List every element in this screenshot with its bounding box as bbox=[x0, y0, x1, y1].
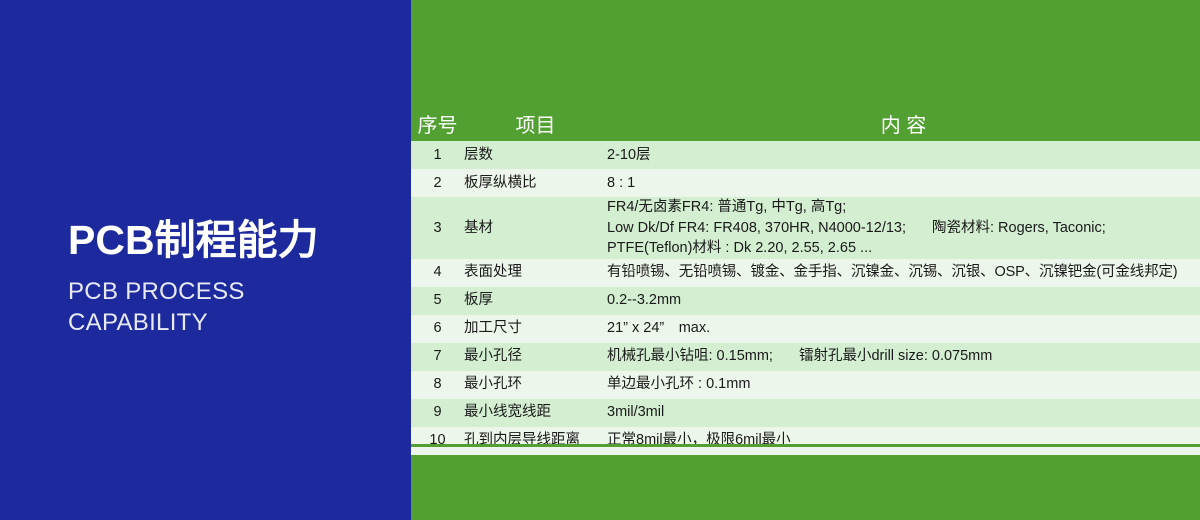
table-row: 6 加工尺寸 21” x 24” max. bbox=[411, 315, 1200, 343]
cell-no: 2 bbox=[411, 169, 464, 197]
column-header-no: 序号 bbox=[411, 105, 464, 141]
cell-no: 1 bbox=[411, 141, 464, 169]
content-line: 正常8mil最小，极限6mil最小 bbox=[607, 430, 1200, 451]
column-header-content: 内 容 bbox=[607, 105, 1200, 141]
content-line: 8 : 1 bbox=[607, 173, 1200, 194]
cell-item: 加工尺寸 bbox=[464, 315, 607, 343]
cell-content: 机械孔最小钻咀: 0.15mm;镭射孔最小drill size: 0.075mm bbox=[607, 343, 1200, 371]
cell-content: 2-10层 bbox=[607, 141, 1200, 169]
cell-no: 5 bbox=[411, 287, 464, 315]
content-line: 21” x 24” max. bbox=[607, 318, 1200, 339]
cell-no: 4 bbox=[411, 259, 464, 287]
content-line: FR4/无卤素FR4: 普通Tg, 中Tg, 高Tg; bbox=[607, 197, 1200, 218]
cell-content: 单边最小孔环 : 0.1mm bbox=[607, 371, 1200, 399]
cell-no: 3 bbox=[411, 197, 464, 259]
content-line: PTFE(Teflon)材料 : Dk 2.20, 2.55, 2.65 ... bbox=[607, 238, 1200, 259]
cell-no: 10 bbox=[411, 427, 464, 455]
page-title-chinese: PCB制程能力 bbox=[68, 218, 398, 262]
cell-content: 21” x 24” max. bbox=[607, 315, 1200, 343]
table-body: 1 层数 2-10层 2 板厚纵横比 8 : 1 3 基材 bbox=[411, 141, 1200, 455]
table-row: 3 基材 FR4/无卤素FR4: 普通Tg, 中Tg, 高Tg; Low Dk/… bbox=[411, 197, 1200, 259]
cell-content: 8 : 1 bbox=[607, 169, 1200, 197]
cell-content: 正常8mil最小，极限6mil最小 bbox=[607, 427, 1200, 455]
title-block: PCB制程能力 PCB PROCESS CAPABILITY bbox=[68, 218, 398, 339]
cell-content: FR4/无卤素FR4: 普通Tg, 中Tg, 高Tg; Low Dk/Df FR… bbox=[607, 197, 1200, 259]
cell-item: 孔到内层导线距离 bbox=[464, 427, 607, 455]
cell-content: 3mil/3mil bbox=[607, 399, 1200, 427]
page-title-english-line2: CAPABILITY bbox=[68, 308, 398, 339]
cell-content: 有铅喷锡、无铅喷锡、镀金、金手指、沉镍金、沉锡、沉银、OSP、沉镍钯金(可金线邦… bbox=[607, 259, 1200, 287]
table-row: 7 最小孔径 机械孔最小钻咀: 0.15mm;镭射孔最小drill size: … bbox=[411, 343, 1200, 371]
table-row: 8 最小孔环 单边最小孔环 : 0.1mm bbox=[411, 371, 1200, 399]
content-line-group: 机械孔最小钻咀: 0.15mm;镭射孔最小drill size: 0.075mm bbox=[607, 346, 1200, 367]
table-row: 10 孔到内层导线距离 正常8mil最小，极限6mil最小 bbox=[411, 427, 1200, 455]
table-row: 4 表面处理 有铅喷锡、无铅喷锡、镀金、金手指、沉镍金、沉锡、沉银、OSP、沉镍… bbox=[411, 259, 1200, 287]
table-header-row: 序号 项目 内 容 bbox=[411, 105, 1200, 141]
content-line: 0.2--3.2mm bbox=[607, 290, 1200, 311]
content-line: 有铅喷锡、无铅喷锡、镀金、金手指、沉镍金、沉锡、沉银、OSP、沉镍钯金(可金线邦… bbox=[607, 262, 1200, 283]
cell-item: 层数 bbox=[464, 141, 607, 169]
table-row: 2 板厚纵横比 8 : 1 bbox=[411, 169, 1200, 197]
page-title-english-line1: PCB PROCESS bbox=[68, 277, 398, 308]
content-line: 陶瓷材料: Rogers, Taconic; bbox=[932, 220, 1106, 236]
left-title-panel: PCB制程能力 PCB PROCESS CAPABILITY bbox=[0, 0, 411, 520]
cell-item: 板厚纵横比 bbox=[464, 169, 607, 197]
page-root: PCB制程能力 PCB PROCESS CAPABILITY 序号 项目 内 容 bbox=[0, 0, 1200, 520]
table-row: 1 层数 2-10层 bbox=[411, 141, 1200, 169]
cell-item: 表面处理 bbox=[464, 259, 607, 287]
table-bottom-edge bbox=[411, 444, 1200, 447]
cell-item: 最小孔环 bbox=[464, 371, 607, 399]
cell-content: 0.2--3.2mm bbox=[607, 287, 1200, 315]
content-line: Low Dk/Df FR4: FR408, 370HR, N4000-12/13… bbox=[607, 220, 906, 236]
cell-item: 最小孔径 bbox=[464, 343, 607, 371]
cell-no: 7 bbox=[411, 343, 464, 371]
page-title-english: PCB PROCESS CAPABILITY bbox=[68, 277, 398, 338]
table-row: 9 最小线宽线距 3mil/3mil bbox=[411, 399, 1200, 427]
pcb-process-capability-table: 序号 项目 内 容 1 层数 2-10层 2 板厚纵横比 bbox=[411, 105, 1200, 455]
content-line: 镭射孔最小drill size: 0.075mm bbox=[799, 348, 992, 364]
cell-item: 最小线宽线距 bbox=[464, 399, 607, 427]
cell-no: 6 bbox=[411, 315, 464, 343]
content-line: 单边最小孔环 : 0.1mm bbox=[607, 374, 1200, 395]
cell-item: 基材 bbox=[464, 197, 607, 259]
content-line: 3mil/3mil bbox=[607, 402, 1200, 423]
content-line: 2-10层 bbox=[607, 145, 1200, 166]
cell-no: 8 bbox=[411, 371, 464, 399]
table-row: 5 板厚 0.2--3.2mm bbox=[411, 287, 1200, 315]
spec-table-container: 序号 项目 内 容 1 层数 2-10层 2 板厚纵横比 bbox=[411, 105, 1200, 444]
content-line: 机械孔最小钻咀: 0.15mm; bbox=[607, 348, 773, 364]
table-header: 序号 项目 内 容 bbox=[411, 105, 1200, 141]
cell-item: 板厚 bbox=[464, 287, 607, 315]
column-header-item: 项目 bbox=[464, 105, 607, 141]
content-line-group: Low Dk/Df FR4: FR408, 370HR, N4000-12/13… bbox=[607, 218, 1200, 239]
cell-no: 9 bbox=[411, 399, 464, 427]
